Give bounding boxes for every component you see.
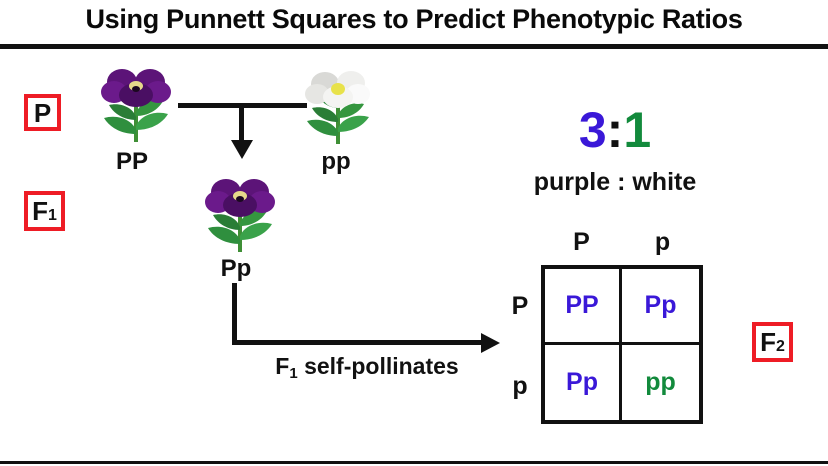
punnett-row-header-1: p — [505, 372, 535, 401]
badge-f1-letter: F — [32, 198, 48, 224]
self-pollinate-prefix: F — [275, 353, 289, 379]
self-pollinate-arrow-horizontal — [232, 340, 484, 345]
self-pollinate-label: F1 self-pollinates — [232, 353, 502, 380]
punnett-row-header-0: P — [505, 292, 535, 321]
badge-f1-subscript: 1 — [48, 208, 57, 224]
phenotypic-ratio-caption: purple : white — [490, 168, 740, 197]
self-pollinate-arrow-head-icon — [481, 333, 500, 353]
badge-parental-letter: P — [34, 100, 51, 126]
purple-flower-parent-icon — [92, 62, 180, 154]
badge-f1-generation: F1 — [24, 191, 65, 231]
genotype-label-parent-purple: PP — [82, 148, 182, 176]
badge-f2-subscript: 2 — [776, 339, 785, 355]
phenotypic-ratio: 3:1 — [490, 105, 740, 155]
genotype-label-f1: Pp — [186, 255, 286, 283]
punnett-cell-0-0: PP — [545, 269, 622, 345]
punnett-cell-0-1: Pp — [622, 269, 699, 345]
punnett-cell-1-1: pp — [622, 345, 699, 421]
self-pollinate-subscript: 1 — [289, 365, 297, 382]
cross-arrow-head-icon — [231, 140, 253, 159]
page-title: Using Punnett Squares to Predict Phenoty… — [0, 4, 828, 35]
badge-f2-generation: F2 — [752, 322, 793, 362]
title-divider — [0, 44, 828, 49]
self-pollinate-text: self-pollinates — [304, 353, 459, 379]
punnett-square-grid: PP Pp Pp pp — [541, 265, 703, 424]
punnett-column-header-0: P — [541, 228, 622, 257]
ratio-white-count: 1 — [623, 102, 651, 158]
ratio-purple-count: 3 — [579, 102, 607, 158]
punnett-cell-1-0: Pp — [545, 345, 622, 421]
badge-parental-generation: P — [24, 94, 61, 131]
purple-flower-f1-icon — [196, 172, 284, 264]
ratio-separator: : — [607, 102, 624, 158]
punnett-column-header-1: p — [622, 228, 703, 257]
genotype-label-parent-white: pp — [286, 148, 386, 176]
cross-connector-stem — [239, 103, 244, 143]
badge-f2-letter: F — [760, 329, 776, 355]
slide-canvas: Using Punnett Squares to Predict Phenoty… — [0, 0, 828, 466]
white-flower-parent-icon — [296, 66, 380, 154]
self-pollinate-arrow-vertical — [232, 283, 237, 345]
bottom-divider — [0, 461, 828, 464]
